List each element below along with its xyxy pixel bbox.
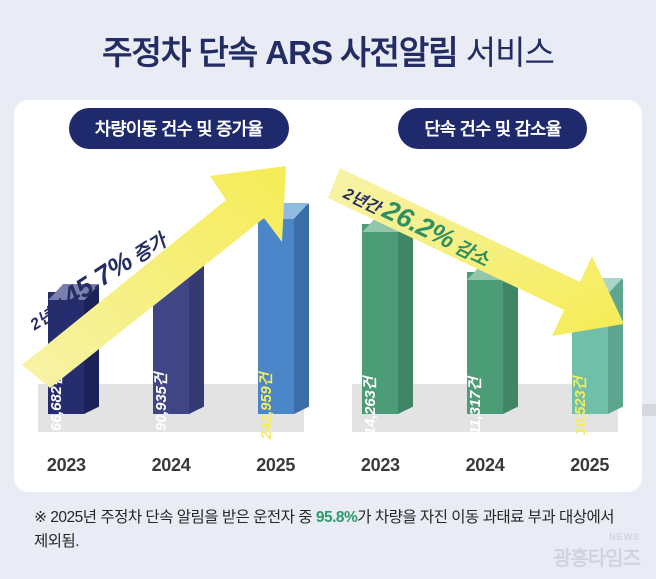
bar-value-label: 190,935건 — [150, 373, 171, 439]
bar-2024: 190,935건 — [153, 262, 189, 414]
year-label-2025: 2025 — [233, 455, 319, 476]
year-label-2023: 2023 — [337, 455, 423, 476]
year-label-2023: 2023 — [23, 455, 109, 476]
chart-panes: 2년간 45.7% 증가 166,682건 — [14, 160, 642, 490]
footnote-prefix: ※ 2025년 주정차 단속 알림을 받은 운전자 중 — [34, 509, 316, 526]
bar-slot: 11,317건 — [442, 272, 528, 414]
bar-side-face — [84, 285, 99, 414]
year-label-2024: 2024 — [442, 455, 528, 476]
year-axis-vehicle-moves: 2023 2024 2025 — [14, 455, 328, 476]
bar-value-label: 11,317건 — [464, 377, 485, 434]
chart-pane-vehicle-moves: 2년간 45.7% 증가 166,682건 — [14, 160, 328, 490]
bar-value-label: 166,682건 — [45, 373, 66, 439]
year-label-2025: 2025 — [547, 455, 633, 476]
bar-side-face — [189, 255, 204, 414]
year-label-2024: 2024 — [128, 455, 214, 476]
page-title: 주정차 단속 ARS 사전알림 서비스 — [102, 26, 554, 74]
page-header: 주정차 단속 ARS 사전알림 서비스 — [0, 0, 656, 100]
section-pill-row: 차량이동 건수 및 증가율 단속 건수 및 감소율 — [14, 108, 642, 149]
bar-side-face — [503, 265, 518, 414]
bar-slot: 166,682건 — [23, 292, 109, 414]
bar-2023: 166,682건 — [48, 292, 84, 414]
footnote-highlight: 95.8% — [316, 509, 357, 526]
year-axis-enforcement: 2023 2024 2025 — [328, 455, 642, 476]
page-title-light: 서비스 — [466, 34, 554, 71]
bar-2025: 10,523건 — [572, 286, 608, 414]
bar-2023: 14,263건 — [362, 224, 398, 414]
bar-slot: 190,935건 — [128, 262, 214, 414]
bar-2025: 242,959건 — [258, 211, 294, 414]
section-pill-vehicle-moves: 차량이동 건수 및 증가율 — [69, 108, 289, 149]
bar-slot: 14,263건 — [337, 224, 423, 414]
bar-2024: 11,317건 — [467, 272, 503, 414]
page-title-bold: 주정차 단속 ARS 사전알림 — [102, 34, 457, 71]
bar-slot: 10,523건 — [547, 286, 633, 414]
chart-pane-enforcement: 2년간 26.2% 감소 14,263건 — [328, 160, 642, 490]
footnote-text: ※ 2025년 주정차 단속 알림을 받은 운전자 중 95.8%가 차량을 자… — [34, 506, 622, 554]
charts-card: 차량이동 건수 및 증가율 단속 건수 및 감소율 2년간 — [14, 100, 642, 492]
bar-value-label: 242,959건 — [255, 373, 276, 439]
bar-value-label: 14,263건 — [359, 377, 380, 435]
watermark-logo: NEWS 광흥타임즈 — [553, 532, 640, 571]
bar-group-vehicle-moves: 166,682건 190,935건 — [14, 184, 328, 414]
footnote-bar: ※ 2025년 주정차 단속 알림을 받은 운전자 중 95.8%가 차량을 자… — [0, 492, 656, 579]
bar-side-face — [608, 279, 623, 414]
bar-group-enforcement: 14,263건 11,317건 — [328, 184, 642, 414]
bar-side-face — [294, 204, 309, 414]
watermark-sub: NEWS — [553, 532, 640, 542]
bar-slot: 242,959건 — [233, 211, 319, 414]
section-pill-enforcement: 단속 건수 및 감소율 — [398, 108, 587, 149]
bar-side-face — [398, 217, 413, 414]
watermark-brand: 광흥타임즈 — [553, 548, 640, 570]
bar-value-label: 10,523건 — [569, 377, 590, 435]
